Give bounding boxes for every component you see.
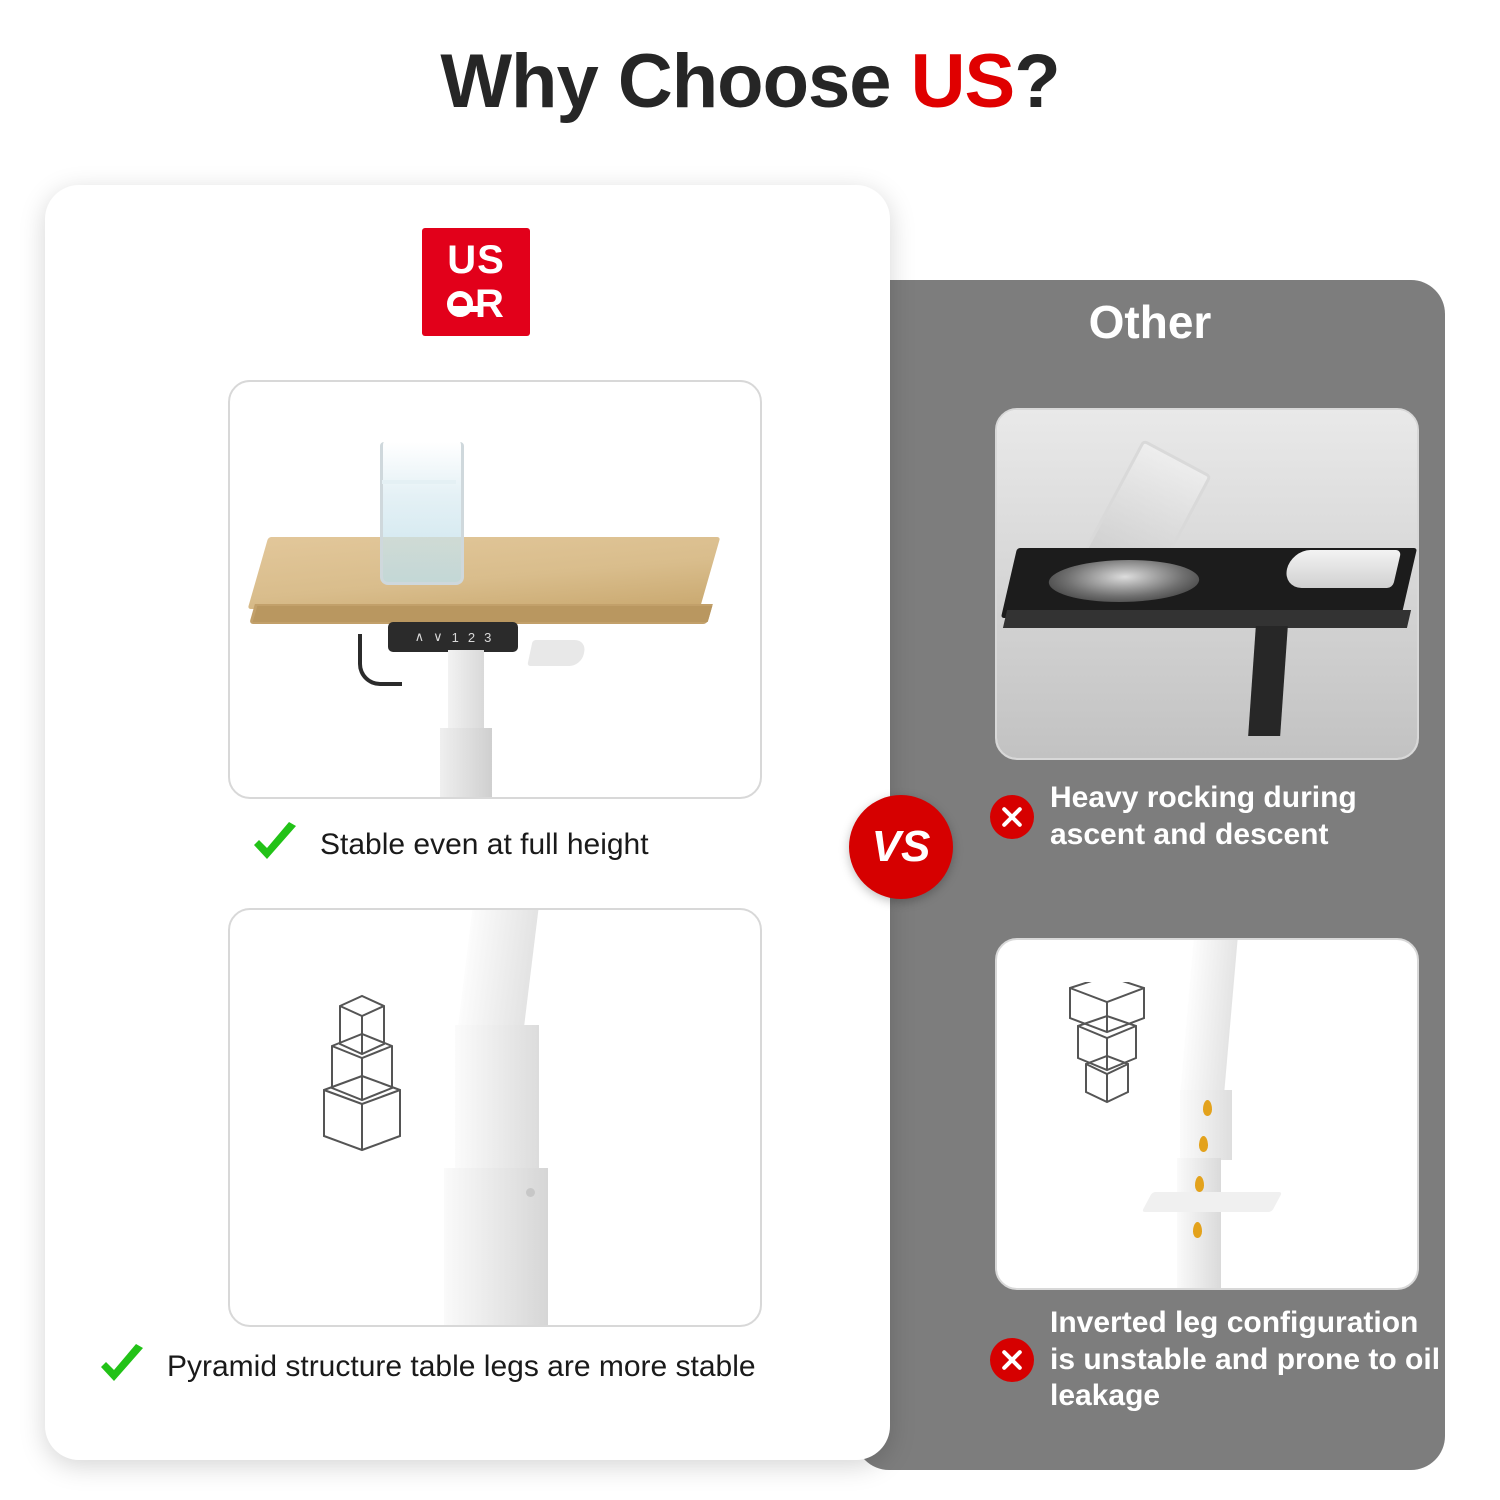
page-title-part1: Why Choose	[440, 39, 910, 124]
black-desktop-edge	[1003, 610, 1411, 628]
hand-pressing-desk	[1283, 550, 1402, 588]
inverted-leg-foot	[1142, 1192, 1283, 1212]
oil-drip-icon	[1203, 1100, 1212, 1116]
pyramid-structure-diagram	[300, 988, 440, 1158]
other-caption-text-1: Heavy rocking during ascent and descent	[1050, 780, 1440, 853]
page-title: Why Choose US?	[0, 38, 1500, 125]
leg-screw-icon	[526, 1188, 535, 1197]
us-caption-text-1: Stable even at full height	[320, 827, 649, 864]
inverted-leg-top	[1180, 940, 1237, 1090]
brand-logo-line2: R	[447, 284, 505, 324]
inverted-leg-illustration	[997, 940, 1417, 1288]
wooden-desktop	[248, 537, 721, 609]
controller-up-icon: ∧	[415, 629, 425, 645]
us-image-card-pyramid-leg	[228, 908, 762, 1327]
us-image-card-stable-height: ∧ ∨ 1 2 3	[228, 380, 762, 799]
controller-down-icon: ∨	[433, 629, 443, 645]
page-title-part2: ?	[1014, 39, 1059, 124]
us-caption-row-2: Pyramid structure table legs are more st…	[95, 1340, 855, 1394]
controller-preset-1: 1	[452, 630, 459, 645]
desk-controller: ∧ ∨ 1 2 3	[388, 622, 518, 652]
brand-logo-o-icon	[447, 291, 473, 317]
green-check-icon	[95, 1340, 149, 1394]
water-glass	[380, 442, 464, 585]
desk-leg-upper-segment	[448, 650, 484, 728]
leg-column-top	[458, 910, 539, 1030]
desk-with-glass-illustration: ∧ ∨ 1 2 3	[230, 382, 760, 797]
green-check-icon	[248, 818, 302, 872]
oil-drip-icon	[1193, 1222, 1202, 1238]
mounting-bracket	[527, 640, 587, 666]
brand-logo-line1: US	[447, 240, 505, 280]
pyramid-leg-illustration	[230, 910, 760, 1325]
controller-preset-3: 3	[484, 630, 491, 645]
leg-column-middle	[455, 1025, 539, 1170]
oil-drip-icon	[1199, 1136, 1208, 1152]
other-caption-row-2: Inverted leg configuration is unstable a…	[990, 1305, 1450, 1415]
inverted-structure-diagram	[1052, 982, 1162, 1117]
brand-logo: US R	[422, 228, 530, 336]
page-title-accent: US	[911, 39, 1015, 124]
red-x-icon	[990, 1338, 1034, 1382]
other-panel-title: Other	[855, 295, 1445, 349]
red-x-icon	[990, 795, 1034, 839]
other-image-card-inverted-leg	[995, 938, 1419, 1290]
us-caption-row-1: Stable even at full height	[248, 818, 848, 872]
desktop-front	[253, 606, 713, 622]
water-surface	[382, 480, 456, 484]
vs-badge: VS	[849, 795, 953, 899]
other-caption-text-2: Inverted leg configuration is unstable a…	[1050, 1305, 1450, 1415]
other-caption-row-1: Heavy rocking during ascent and descent	[990, 780, 1440, 853]
other-image-card-rocking	[995, 408, 1419, 760]
controller-preset-2: 2	[468, 630, 475, 645]
us-caption-text-2: Pyramid structure table legs are more st…	[167, 1349, 756, 1386]
desk-leg-lower-segment	[440, 728, 492, 798]
brand-logo-r: R	[475, 284, 505, 324]
spilling-desk-illustration	[997, 410, 1417, 758]
oil-drip-icon	[1195, 1176, 1204, 1192]
